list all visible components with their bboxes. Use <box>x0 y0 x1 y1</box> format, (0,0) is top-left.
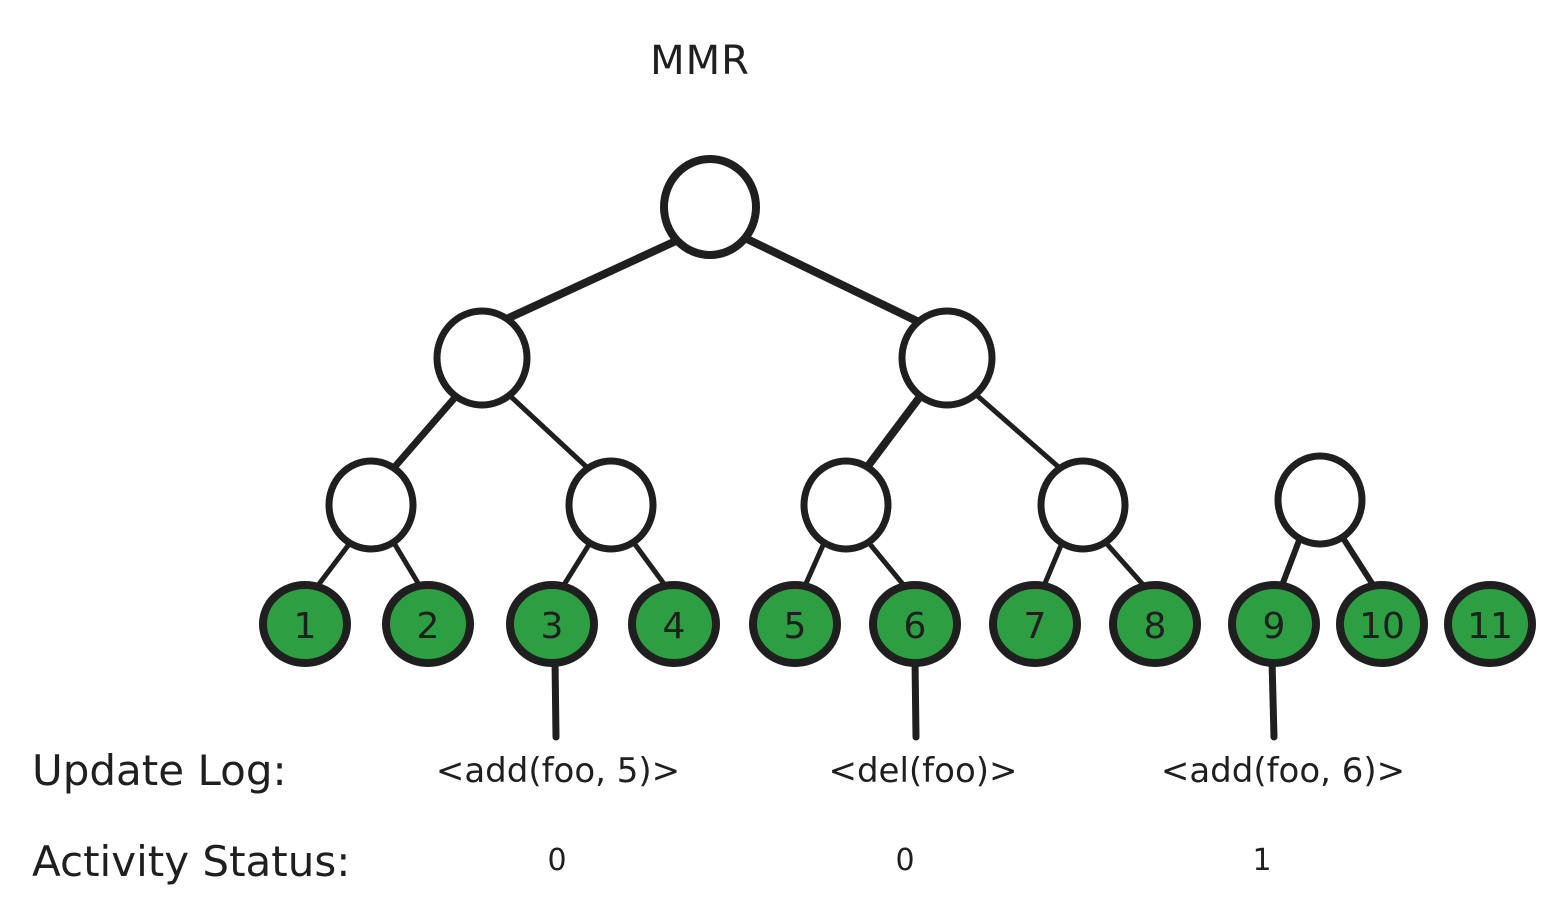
edge-b-leaf3 <box>562 543 590 588</box>
log-tick-leaf3 <box>555 660 556 737</box>
leaf-label: 1 <box>294 606 317 647</box>
update-log-row-label: Update Log: <box>32 746 287 795</box>
edge-root-right <box>745 238 925 325</box>
log-tick-leaf6 <box>915 660 916 737</box>
update-log-entry: <add(foo, 6)> <box>1161 751 1405 791</box>
edge-d-leaf7 <box>1043 543 1062 588</box>
edge-d-leaf8 <box>1106 543 1146 588</box>
tree-node-root[interactable] <box>664 159 756 255</box>
internal-nodes-group <box>329 159 1362 549</box>
tree-node-level2-right[interactable] <box>902 311 992 405</box>
update-log-entry: <del(foo)> <box>828 751 1017 791</box>
edge-root-left <box>500 240 678 322</box>
activity-status-value: 0 <box>547 843 566 878</box>
leaf-nodes-group: 1 2 3 4 5 6 7 8 <box>263 585 1532 663</box>
edge-e-leaf9 <box>1281 538 1300 588</box>
leaf-node-4[interactable]: 4 <box>632 585 716 663</box>
edge-l2right-d <box>973 392 1062 470</box>
leaf-label: 2 <box>417 606 440 647</box>
leaf-label: 6 <box>904 606 927 647</box>
activity-status-value: 1 <box>1252 843 1271 878</box>
edge-l2right-c <box>865 394 922 470</box>
log-tick-leaf9 <box>1272 660 1274 737</box>
leaf-node-1[interactable]: 1 <box>263 585 347 663</box>
leaf-label: 11 <box>1467 606 1513 647</box>
tree-node-level3-c[interactable] <box>804 461 888 549</box>
edge-a-leaf1 <box>316 543 350 588</box>
leaf-node-7[interactable]: 7 <box>993 585 1077 663</box>
leaf-label: 7 <box>1024 606 1047 647</box>
update-log-entry: <add(foo, 5)> <box>436 751 680 791</box>
leaf-label: 10 <box>1359 606 1405 647</box>
activity-status-value: 0 <box>895 843 914 878</box>
edge-b-leaf4 <box>634 543 667 588</box>
activity-status-row-label: Activity Status: <box>32 837 350 886</box>
edge-l2left-a <box>392 394 458 470</box>
tree-node-level2-left[interactable] <box>437 311 527 405</box>
edge-l2left-b <box>508 394 592 472</box>
edge-c-leaf6 <box>869 543 906 588</box>
leaf-node-11[interactable]: 11 <box>1448 585 1532 663</box>
edge-a-leaf2 <box>394 543 421 588</box>
leaf-label: 4 <box>663 606 686 647</box>
tree-node-level3-d[interactable] <box>1041 461 1125 549</box>
edge-e-leaf10 <box>1343 538 1375 588</box>
edge-c-leaf5 <box>804 543 824 588</box>
log-tick-lines <box>555 660 1274 737</box>
tree-node-level3-e[interactable] <box>1278 456 1362 544</box>
tree-node-level3-b[interactable] <box>569 461 653 549</box>
leaf-node-6[interactable]: 6 <box>873 585 957 663</box>
leaf-label: 3 <box>541 606 564 647</box>
leaf-node-5[interactable]: 5 <box>753 585 837 663</box>
leaf-label: 5 <box>784 606 807 647</box>
leaf-label: 8 <box>1144 606 1167 647</box>
mmr-diagram-canvas: MMR <box>0 0 1564 920</box>
leaf-label: 9 <box>1263 606 1286 647</box>
leaf-node-3[interactable]: 3 <box>510 585 594 663</box>
tree-node-level3-a[interactable] <box>329 461 413 549</box>
leaf-node-10[interactable]: 10 <box>1340 585 1424 663</box>
leaf-node-8[interactable]: 8 <box>1113 585 1197 663</box>
page-title: MMR <box>650 38 750 84</box>
leaf-node-2[interactable]: 2 <box>386 585 470 663</box>
leaf-node-9[interactable]: 9 <box>1232 585 1316 663</box>
